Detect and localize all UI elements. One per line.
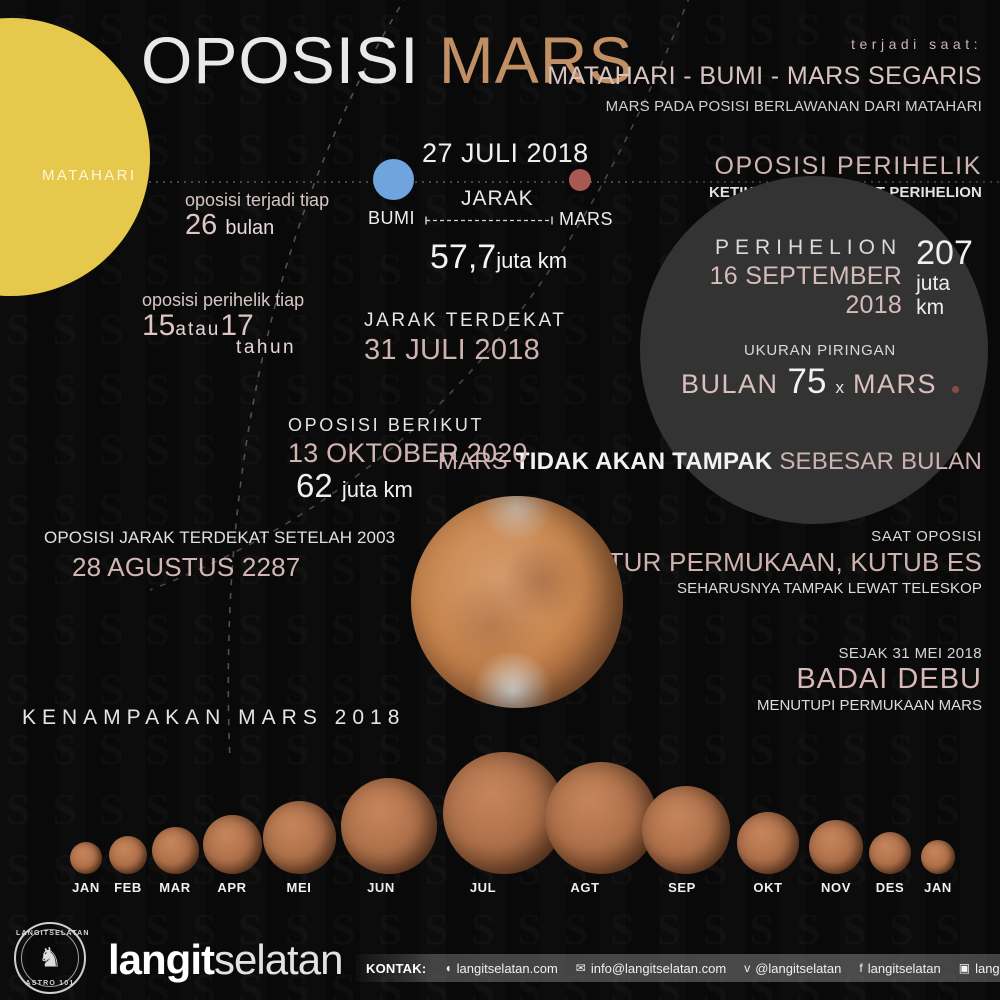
opposition-interval-number: 26 (185, 209, 217, 241)
perihelic-num-1: 15 (142, 309, 175, 342)
timeline-spacer (898, 748, 978, 840)
dust-storm-block: SEJAK 31 MEI 2018 BADAI DEBU MENUTUPI PE… (757, 645, 982, 714)
distance-label: JARAK (461, 187, 534, 211)
timeline-month-label: JUN (341, 880, 421, 895)
timeline-item: JUN (341, 748, 421, 895)
timeline-mars-disc (921, 840, 955, 874)
sun-label: MATAHARI (42, 167, 136, 184)
earth-circle (373, 159, 414, 200)
brand-part-1: langit (108, 936, 214, 983)
contact-item[interactable]: ᴠ@langitselatan (744, 961, 841, 976)
distance-unit: juta km (496, 248, 567, 273)
timeline-month-label: AGT (545, 880, 625, 895)
dust-storm-title: BADAI DEBU (757, 663, 982, 696)
contact-text: @langitselatan (755, 961, 841, 976)
timeline-month-label: SEP (642, 880, 722, 895)
rss-icon: ◖ (444, 961, 451, 975)
mars-dot-icon (952, 386, 959, 393)
timeline-spacer (545, 748, 625, 762)
timeline-spacer (341, 748, 421, 778)
disc-size-factor: 75 (788, 362, 827, 402)
timeline-mars-disc (263, 801, 336, 874)
timeline-month-label: MEI (259, 880, 339, 895)
contact-text: langitselatan.com (457, 961, 558, 976)
opposition-interval-unit: bulan (225, 217, 274, 239)
closest-since-2003-label: OPOSISI JARAK TERDEKAT SETELAH 2003 (44, 528, 395, 548)
brand-part-2: selatan (214, 936, 342, 983)
distance-number: 57,7 (430, 238, 496, 276)
perihelion-word: PERIHELION (660, 236, 902, 260)
perihelion-distance-value: 207 (916, 236, 980, 270)
title-part-oposisi: OPOSISI (141, 23, 419, 97)
perihelion-date: 16 SEPTEMBER 2018 (660, 262, 902, 320)
mars-label: MARS (559, 209, 613, 230)
perihelic-conjunction: atau (175, 319, 220, 340)
header-eyebrow: terjadi saat: (851, 36, 982, 52)
statement-post: SEBESAR BULAN (772, 448, 982, 475)
next-opposition-block: OPOSISI BERIKUT 13 OKTOBER 2020 62 juta … (288, 415, 528, 505)
statement-bold: TIDAK AKAN TAMPAK (515, 448, 773, 475)
closest-since-2003-date: 28 AGUSTUS 2287 (44, 552, 395, 583)
opposition-interval-label: oposisi terjadi tiap (185, 190, 329, 211)
dust-storm-since: SEJAK 31 MEI 2018 (757, 645, 982, 662)
distance-value: 57,7juta km (430, 238, 567, 277)
contact-item[interactable]: ▣langitselatanmedia (959, 961, 1000, 976)
perihelic-interval-block: oposisi perihelik tiap 15atau17 tahun (142, 290, 304, 359)
perihelik-heading: OPOSISI PERIHELIK (714, 152, 982, 181)
next-opposition-label: OPOSISI BERIKUT (288, 415, 528, 436)
surface-features-eyebrow: SAAT OPOSISI (584, 528, 982, 545)
logo-top-text: LANGITSELATAN (16, 930, 84, 937)
centaur-icon: ♞ (38, 945, 62, 972)
contact-item[interactable]: flangitselatan (859, 961, 940, 976)
surface-features-block: SAAT OPOSISI FITUR PERMUKAAN, KUTUB ES S… (584, 528, 982, 597)
langitselatan-logo: LANGITSELATAN ♞ ASTRO 101 (14, 922, 86, 994)
timeline-spacer (642, 748, 722, 786)
contact-text: info@langitselatan.com (591, 961, 726, 976)
closest-distance-date: 31 JULI 2018 (364, 334, 567, 367)
mail-icon: ✉ (576, 961, 586, 975)
facebook-icon: f (859, 961, 862, 975)
header-alignment-line: MATAHARI - BUMI - MARS SEGARIS (547, 62, 982, 91)
disc-size-mars: MARS (853, 369, 937, 400)
twitter-icon: ᴠ (744, 961, 750, 975)
disc-size-times: x (835, 378, 844, 398)
timeline-item: SEP (642, 748, 722, 895)
next-opposition-number: 62 (296, 467, 333, 504)
dust-storm-sub: MENUTUPI PERMUKAAN MARS (757, 697, 982, 714)
perihelion-block: PERIHELION 16 SEPTEMBER 2018 207 juta km (660, 236, 980, 320)
mars-photo (411, 496, 623, 708)
timeline-month-label: JUL (443, 880, 523, 895)
timeline-spacer (259, 748, 339, 801)
timeline-item: AGT (545, 748, 625, 895)
closest-distance-label: JARAK TERDEKAT (364, 310, 567, 332)
contact-text: langitselatanmedia (975, 961, 1000, 976)
timeline-mars-disc (203, 815, 262, 874)
next-opposition-date: 13 OKTOBER 2020 (288, 438, 528, 469)
disc-size-block: UKURAN PIRINGAN BULAN 75 x MARS (660, 342, 980, 402)
timeline-month-label: JAN (898, 880, 978, 895)
closest-since-2003-block: OPOSISI JARAK TERDEKAT SETELAH 2003 28 A… (44, 528, 395, 583)
footer: LANGITSELATAN ♞ ASTRO 101 langitselatan … (0, 914, 1000, 1000)
timeline-spacer (443, 748, 523, 752)
perihelic-interval-label: oposisi perihelik tiap (142, 290, 304, 311)
earth-label: BUMI (368, 208, 415, 229)
timeline-mars-disc (737, 812, 799, 874)
opposition-interval-value: 26 bulan (185, 209, 329, 242)
logo-bottom-text: ASTRO 101 (16, 980, 84, 987)
contact-item[interactable]: ◖langitselatan.com (444, 961, 557, 976)
disc-size-label: UKURAN PIRINGAN (660, 342, 980, 359)
timeline-mars-disc (545, 762, 657, 874)
instagram-icon: ▣ (959, 961, 970, 975)
contact-label: KONTAK: (366, 961, 426, 976)
contact-text: langitselatan (868, 961, 941, 976)
timeline-item: JUL (443, 748, 523, 895)
mars-apparent-size-timeline: JANFEBMARAPRMEIJUNJULAGTSEPOKTNOVDESJAN (0, 745, 1000, 895)
contact-bar: KONTAK: ◖langitselatan.com✉info@langitse… (356, 954, 1000, 982)
disc-size-moon: BULAN (681, 369, 779, 400)
infographic-canvas: SSSSSSSSSSSSSSSSSSSSSSSSSSSSSSSSSSSSSSSS… (0, 0, 1000, 1000)
contact-item[interactable]: ✉info@langitselatan.com (576, 961, 726, 976)
closest-distance-block: JARAK TERDEKAT 31 JULI 2018 (364, 310, 567, 367)
opposition-interval-block: oposisi terjadi tiap 26 bulan (185, 190, 329, 242)
surface-features-sub: SEHARUSNYA TAMPAK LEWAT TELESKOP (584, 580, 982, 597)
timeline-item: JAN (898, 748, 978, 895)
opposition-date: 27 JULI 2018 (422, 138, 589, 169)
timeline-mars-disc (341, 778, 437, 874)
timeline-mars-disc (642, 786, 730, 874)
distance-arrow-icon (424, 216, 554, 225)
brand-wordmark: langitselatan (108, 936, 342, 984)
mars-circle (569, 169, 591, 191)
surface-features-title: FITUR PERMUKAAN, KUTUB ES (584, 547, 982, 578)
header-subline: MARS PADA POSISI BERLAWANAN DARI MATAHAR… (606, 98, 982, 115)
timeline-title: KENAMPAKAN MARS 2018 (22, 706, 405, 730)
timeline-item: MEI (259, 748, 339, 895)
perihelion-distance-unit: juta km (916, 272, 980, 320)
next-opposition-unit: juta km (342, 477, 413, 502)
